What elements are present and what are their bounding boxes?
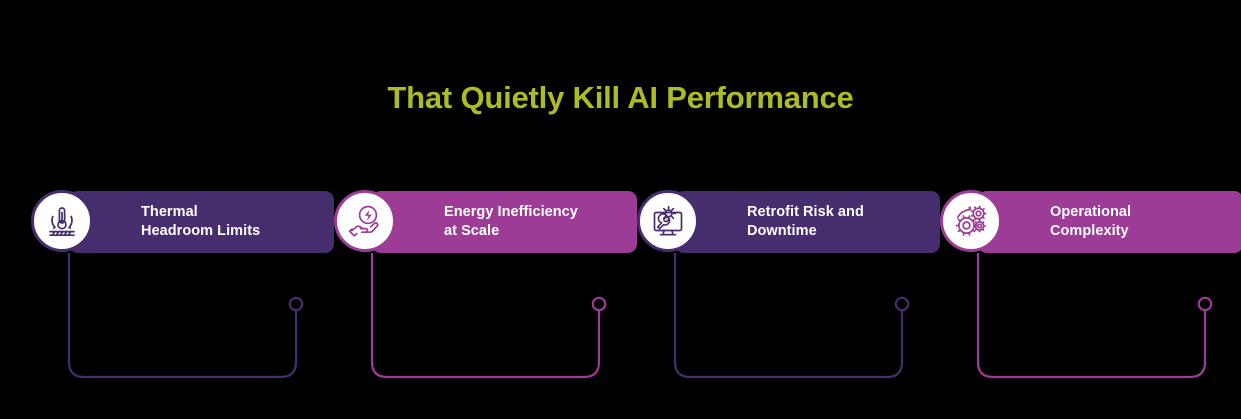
thermometer-surface-icon — [31, 190, 93, 252]
gears-cycle-icon — [940, 190, 1002, 252]
connector-endpoint-dot — [593, 298, 605, 310]
connector-path — [69, 253, 296, 377]
challenge-card[interactable]: Thermal Headroom Limits — [69, 191, 334, 253]
challenge-item[interactable]: Operational Complexity — [940, 191, 1241, 253]
challenge-card[interactable]: Energy Inefficiency at Scale — [372, 191, 637, 253]
infographic-root: That Quietly Kill AI Performance Thermal… — [0, 0, 1241, 419]
connector-endpoint-dot — [290, 298, 302, 310]
challenge-item[interactable]: Retrofit Risk and Downtime — [637, 191, 940, 253]
connector-path — [675, 253, 902, 377]
challenge-card-label: Thermal Headroom Limits — [69, 203, 270, 241]
challenge-card-label: Energy Inefficiency at Scale — [372, 203, 588, 241]
challenge-card[interactable]: Operational Complexity — [978, 191, 1241, 253]
connector-endpoint-dot — [896, 298, 908, 310]
challenge-card-label: Retrofit Risk and Downtime — [675, 203, 874, 241]
challenge-item[interactable]: Energy Inefficiency at Scale — [334, 191, 637, 253]
monitor-wrench-gear-icon — [637, 190, 699, 252]
hand-energy-bolt-icon — [334, 190, 396, 252]
connector-endpoint-dot — [1199, 298, 1211, 310]
challenge-card[interactable]: Retrofit Risk and Downtime — [675, 191, 940, 253]
page-title: That Quietly Kill AI Performance — [0, 80, 1241, 116]
connector-path — [372, 253, 599, 377]
challenge-card-label: Operational Complexity — [978, 203, 1141, 241]
connector-path — [978, 253, 1205, 377]
challenge-item[interactable]: Thermal Headroom Limits — [31, 191, 334, 253]
